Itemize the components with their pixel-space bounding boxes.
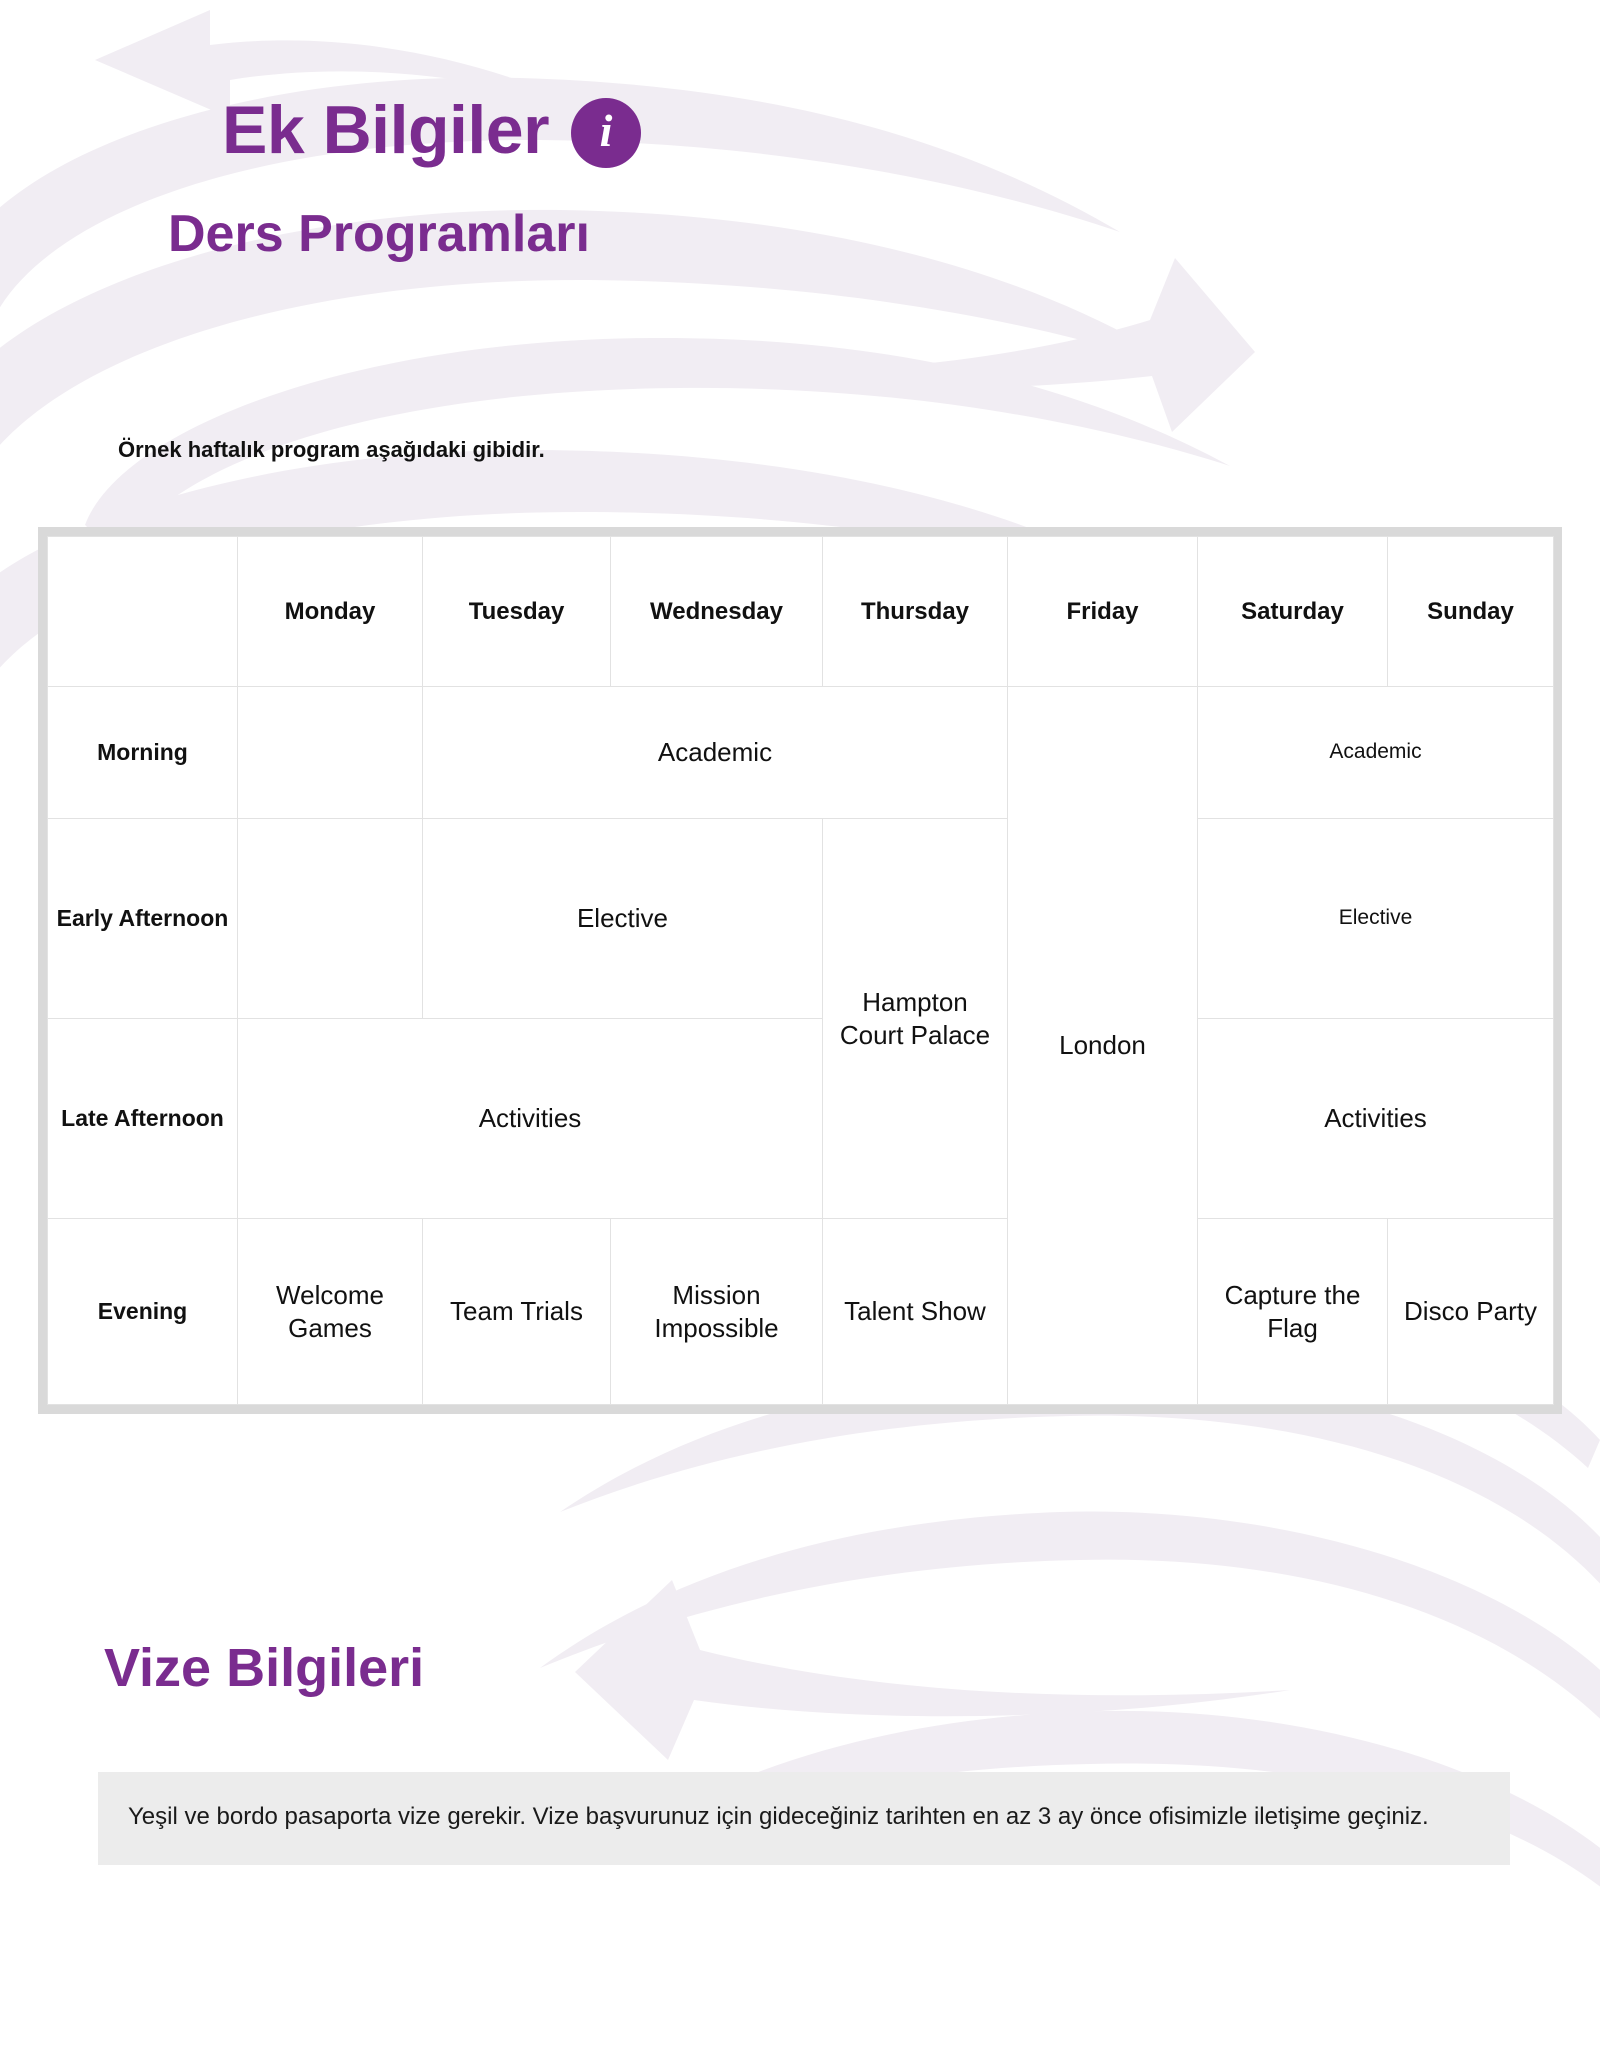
page-subtitle: Ders Programları [0, 208, 1600, 260]
page-root: Ek Bilgiler i Ders Programları Örnek haf… [0, 0, 1600, 2046]
column-header-saturday: Saturday [1198, 537, 1388, 687]
visa-info-text: Yeşil ve bordo pasaporta vize gerekir. V… [128, 1798, 1480, 1835]
page-title: Ek Bilgiler [222, 96, 549, 164]
table-row: Evening Welcome Games Team Trials Missio… [48, 1219, 1554, 1405]
cell-late-activities: Activities [238, 1019, 823, 1219]
intro-text: Örnek haftalık program aşağıdaki gibidir… [118, 437, 545, 463]
cell-evening-sunday: Disco Party [1388, 1219, 1554, 1405]
row-label-evening: Evening [48, 1219, 238, 1405]
cell-morning-weekend-academic: Academic [1198, 687, 1554, 819]
cell-early-elective: Elective [423, 819, 823, 1019]
table-row: Early Afternoon Elective Hampton Court P… [48, 819, 1554, 1019]
page-title-row: Ek Bilgiler i [0, 0, 1600, 168]
visa-info-box: Yeşil ve bordo pasaporta vize gerekir. V… [98, 1772, 1510, 1865]
column-header-thursday: Thursday [823, 537, 1008, 687]
column-header-sunday: Sunday [1388, 537, 1554, 687]
column-header-tuesday: Tuesday [423, 537, 611, 687]
cell-morning-monday [238, 687, 423, 819]
cell-early-monday [238, 819, 423, 1019]
table-corner-cell [48, 537, 238, 687]
page-header: Ek Bilgiler i Ders Programları [0, 0, 1600, 260]
column-header-friday: Friday [1008, 537, 1198, 687]
cell-morning-academic: Academic [423, 687, 1008, 819]
cell-late-weekend-activities: Activities [1198, 1019, 1554, 1219]
visa-section-title: Vize Bilgileri [104, 1641, 424, 1695]
info-circle-icon: i [571, 98, 641, 168]
row-label-morning: Morning [48, 687, 238, 819]
cell-evening-thursday: Talent Show [823, 1219, 1008, 1405]
cell-thursday-hampton-court-palace: Hampton Court Palace [823, 819, 1008, 1219]
cell-evening-wednesday: Mission Impossible [611, 1219, 823, 1405]
cell-evening-tuesday: Team Trials [423, 1219, 611, 1405]
cell-early-weekend-elective: Elective [1198, 819, 1554, 1019]
schedule-head: Monday Tuesday Wednesday Thursday Friday… [48, 537, 1554, 687]
column-header-monday: Monday [238, 537, 423, 687]
cell-evening-saturday: Capture the Flag [1198, 1219, 1388, 1405]
row-label-early-afternoon: Early Afternoon [48, 819, 238, 1019]
table-row: Morning Academic London Academic [48, 687, 1554, 819]
cell-friday-london: London [1008, 687, 1198, 1405]
table-header-row: Monday Tuesday Wednesday Thursday Friday… [48, 537, 1554, 687]
table-row: Late Afternoon Activities Activities [48, 1019, 1554, 1219]
schedule-table-container: Monday Tuesday Wednesday Thursday Friday… [38, 527, 1562, 1414]
column-header-wednesday: Wednesday [611, 537, 823, 687]
cell-evening-monday: Welcome Games [238, 1219, 423, 1405]
schedule-table: Monday Tuesday Wednesday Thursday Friday… [47, 536, 1554, 1405]
row-label-late-afternoon: Late Afternoon [48, 1019, 238, 1219]
info-icon-glyph: i [600, 108, 613, 154]
schedule-body: Morning Academic London Academic Early A… [48, 687, 1554, 1405]
